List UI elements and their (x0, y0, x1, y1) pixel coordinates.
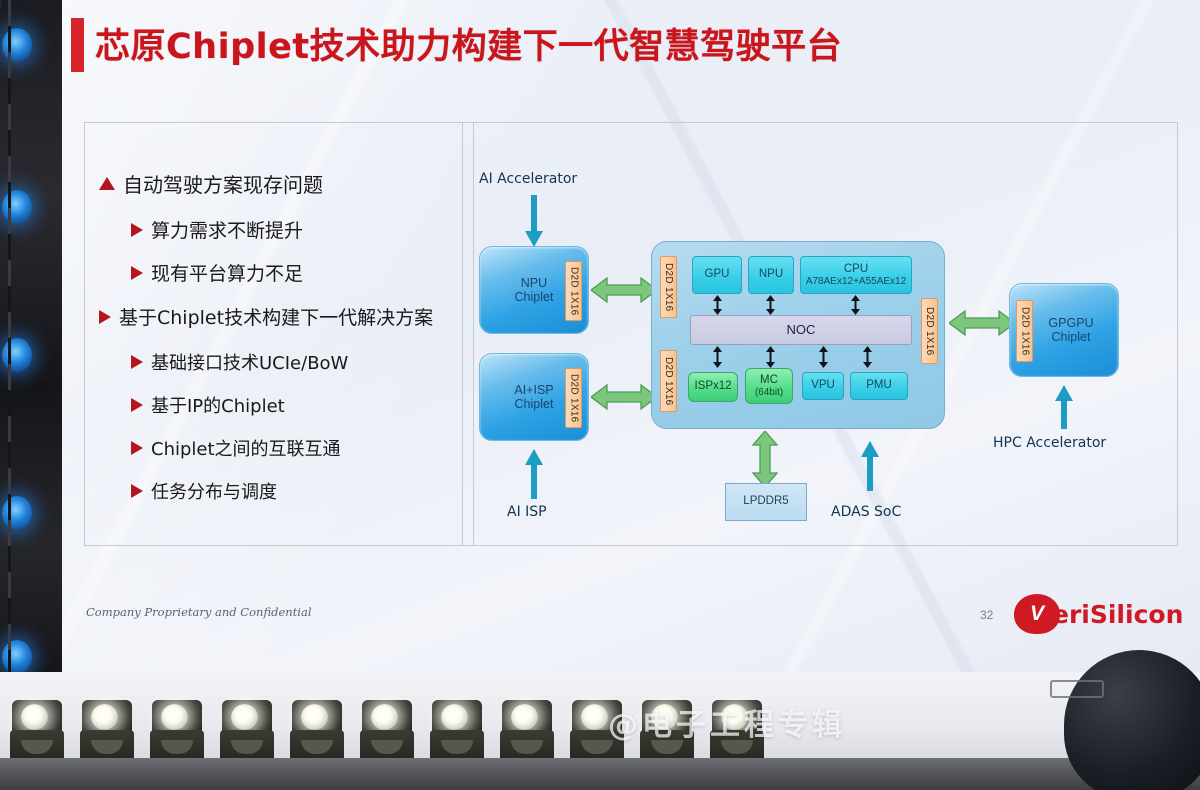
caption-ai-isp: AI ISP (507, 504, 547, 520)
arrow-cpu-noc (850, 295, 861, 315)
bullet-text: 基于Chiplet技术构建下一代解决方案 (119, 303, 433, 330)
slide-page-number: 32 (980, 608, 993, 622)
bullet-text: Chiplet之间的互联互通 (151, 435, 341, 461)
arrow-gpu-noc (712, 295, 723, 315)
triangle-right-icon (131, 484, 143, 498)
bullet-item: 自动驾驶方案现存问题 (99, 169, 323, 198)
light-head (432, 700, 482, 734)
light-lens-icon (371, 704, 398, 730)
arrow-noc-isp (712, 346, 723, 368)
chiplet-ai-isp-line1: AI+ISP (514, 383, 553, 397)
soc-unit-npu: NPU (748, 256, 794, 294)
arrow-soc-to-lpddr5 (750, 431, 780, 487)
light-lens-icon (511, 704, 538, 730)
logo-text-silicon: Silicon (1090, 600, 1184, 629)
chiplet-npu: NPU Chiplet D2D 1X16 (479, 246, 589, 334)
verisilicon-logo: V eriSilicon (1014, 593, 1174, 635)
bullet-item: 基于Chiplet技术构建下一代解决方案 (99, 303, 433, 330)
triangle-right-icon (131, 223, 143, 237)
light-lens-icon (91, 704, 118, 730)
light-head (152, 700, 202, 734)
soc-unit-cpu: CPU A78AEx12+A55AEx12 (800, 256, 912, 294)
soc-unit-cpu-label: CPU (844, 263, 868, 276)
bullet-item: 基础接口技术UCIe/BoW (131, 349, 348, 375)
light-lens-icon (161, 704, 188, 730)
truss-blue-lamp (2, 28, 32, 62)
logo-text: eriSilicon (1052, 600, 1183, 629)
adas-soc-block: D2D 1X16 D2D 1X16 D2D 1X16 GPU NPU CPU A… (651, 241, 945, 429)
bullet-text: 任务分布与调度 (151, 478, 277, 504)
light-head (82, 700, 132, 734)
stage-floor (0, 758, 1200, 790)
d2d-interface-soc-right: D2D 1X16 (921, 298, 938, 364)
arrow-ai-isp-up (525, 449, 543, 499)
bullet-item: 基于IP的Chiplet (131, 392, 285, 418)
light-head (362, 700, 412, 734)
architecture-diagram-panel: AI Accelerator NPU Chiplet D2D 1X16 (462, 122, 1178, 546)
triangle-right-icon (131, 398, 143, 412)
caption-hpc-accelerator: HPC Accelerator (993, 435, 1106, 451)
light-lens-icon (301, 704, 328, 730)
chiplet-ai-isp-line2: Chiplet (514, 397, 553, 411)
soc-unit-isp: ISPx12 (688, 372, 738, 402)
light-lens-icon (231, 704, 258, 730)
d2d-interface-soc-left-bottom: D2D 1X16 (660, 350, 677, 412)
page-title: 芯原Chiplet技术助力构建下一代智慧驾驶平台 (95, 18, 842, 69)
arrow-noc-pmu (862, 346, 873, 368)
arrow-adas-soc-up (861, 441, 879, 491)
light-lens-icon (21, 704, 48, 730)
bullet-text: 基于IP的Chiplet (151, 392, 285, 418)
site-watermark: @电子工程专辑 (608, 700, 846, 744)
triangle-right-icon (131, 441, 143, 455)
soc-unit-mc-sub: (64bit) (755, 387, 783, 399)
d2d-interface-gpgpu-chiplet: D2D 1X16 (1016, 300, 1033, 362)
truss-blue-lamp (2, 640, 32, 674)
truss-blue-lamp (2, 496, 32, 530)
light-head (222, 700, 272, 734)
confidentiality-note: Company Proprietary and Confidential (86, 605, 312, 619)
arrow-noc-mc (765, 346, 776, 368)
d2d-interface-ai-isp-chiplet: D2D 1X16 (565, 368, 582, 428)
arrow-ai-isp-to-soc (591, 382, 657, 412)
light-head (502, 700, 552, 734)
arrow-npu-to-soc (591, 275, 657, 305)
conference-stage-photo: 芯原Chiplet技术助力构建下一代智慧驾驶平台 自动驾驶方案现存问题 算力需求… (0, 0, 1200, 790)
truss-blue-lamp (2, 338, 32, 372)
chiplet-ai-isp: AI+ISP Chiplet D2D 1X16 (479, 353, 589, 441)
bullet-text: 自动驾驶方案现存问题 (123, 169, 323, 198)
arrow-soc-to-gpgpu (949, 308, 1015, 338)
stage-truss (0, 0, 62, 700)
caption-adas-soc: ADAS SoC (831, 504, 901, 520)
arrow-ai-accelerator-down (525, 195, 543, 247)
title-accent-bar (71, 18, 84, 72)
truss-blue-lamp (2, 190, 32, 224)
triangle-right-icon (131, 266, 143, 280)
arrow-hpc-accelerator-up (1055, 385, 1073, 429)
chiplet-gpgpu-line2: Chiplet (1048, 330, 1093, 344)
bullet-text: 基础接口技术UCIe/BoW (151, 349, 348, 375)
light-lens-icon (441, 704, 468, 730)
bullet-text: 算力需求不断提升 (151, 216, 303, 243)
logo-mark-icon: V (1014, 594, 1060, 634)
bullet-item: 算力需求不断提升 (131, 216, 303, 243)
arrow-npu-noc (765, 295, 776, 315)
chiplet-architecture-diagram: AI Accelerator NPU Chiplet D2D 1X16 (463, 123, 1177, 545)
soc-unit-mc-label: MC (760, 374, 778, 387)
eyeglasses-icon (1050, 680, 1104, 698)
soc-unit-mc: MC (64bit) (745, 368, 793, 404)
light-head (12, 700, 62, 734)
bullet-text: 现有平台算力不足 (151, 259, 303, 286)
chiplet-gpgpu: GPGPU Chiplet D2D 1X16 (1009, 283, 1119, 377)
light-head (292, 700, 342, 734)
d2d-interface-soc-left-top: D2D 1X16 (660, 256, 677, 318)
bullet-panel: 自动驾驶方案现存问题 算力需求不断提升 现有平台算力不足 基于Chiplet技术… (84, 122, 474, 546)
triangle-up-icon (99, 177, 115, 190)
chiplet-npu-line1: NPU (515, 276, 554, 290)
bullet-item: 任务分布与调度 (131, 478, 277, 504)
triangle-right-icon (99, 310, 111, 324)
arrow-noc-vpu (818, 346, 829, 368)
memory-lpddr5: LPDDR5 (725, 483, 807, 521)
soc-unit-cpu-sub: A78AEx12+A55AEx12 (806, 276, 906, 288)
soc-unit-gpu: GPU (692, 256, 742, 294)
triangle-right-icon (131, 355, 143, 369)
caption-ai-accelerator: AI Accelerator (479, 171, 577, 187)
bullet-item: Chiplet之间的互联互通 (131, 435, 341, 461)
chiplet-gpgpu-line1: GPGPU (1048, 316, 1093, 330)
chiplet-npu-line2: Chiplet (515, 290, 554, 304)
logo-mark-letter: V (1030, 602, 1044, 626)
light-lens-icon (581, 704, 608, 730)
bullet-item: 现有平台算力不足 (131, 259, 303, 286)
projection-screen: 芯原Chiplet技术助力构建下一代智慧驾驶平台 自动驾驶方案现存问题 算力需求… (62, 0, 1200, 672)
soc-unit-pmu: PMU (850, 372, 908, 400)
soc-unit-vpu: VPU (802, 372, 844, 400)
d2d-interface-npu-chiplet: D2D 1X16 (565, 261, 582, 321)
soc-noc-bus: NOC (690, 315, 912, 345)
presentation-slide: 芯原Chiplet技术助力构建下一代智慧驾驶平台 自动驾驶方案现存问题 算力需求… (62, 0, 1200, 672)
